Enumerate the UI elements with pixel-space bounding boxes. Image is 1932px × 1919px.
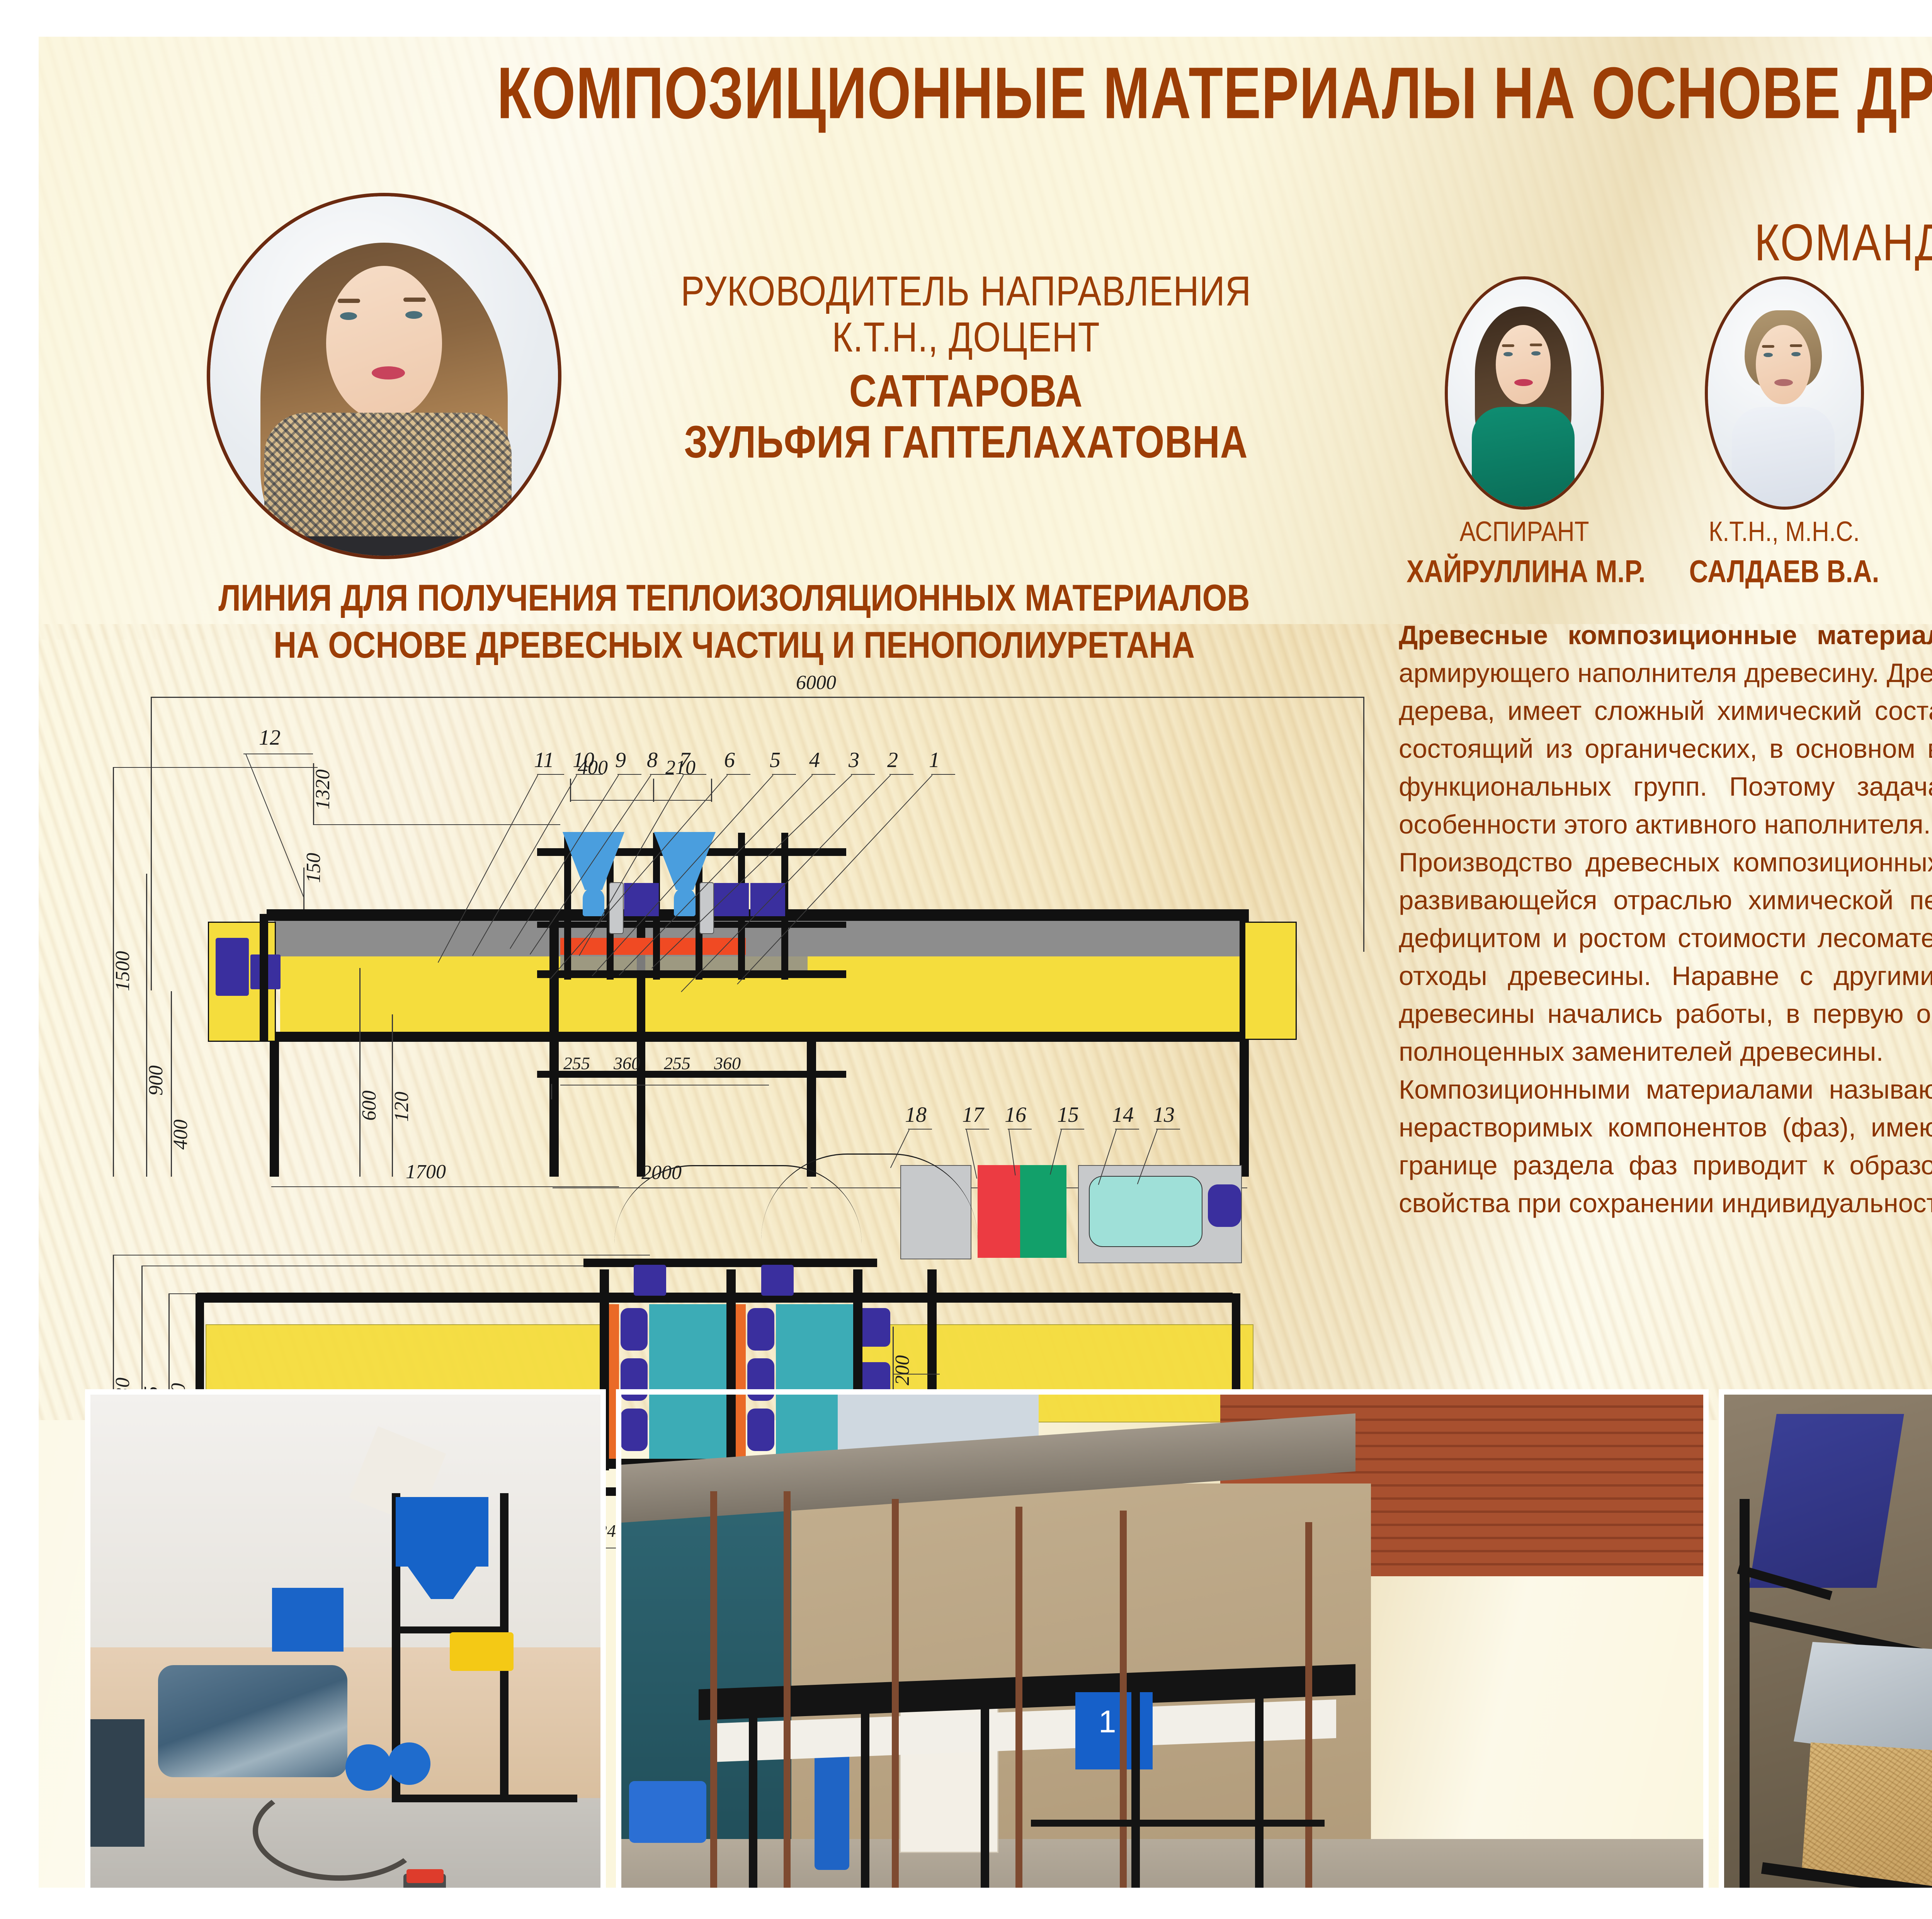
callout-14: 14 bbox=[1112, 1102, 1134, 1127]
callout-9: 9 bbox=[615, 748, 626, 772]
team-member-1: АСПИРАНТ ХАЙРУЛЛИНА М.Р. bbox=[1406, 276, 1642, 584]
technical-drawing: 6000 1500 900 400 1320 12 150 400 210 bbox=[104, 651, 1379, 1385]
avatar bbox=[1445, 276, 1604, 510]
callout-8: 8 bbox=[647, 748, 658, 772]
paragraph-3: Композиционными материалами называются м… bbox=[1399, 1071, 1932, 1222]
bin-label: 1 bbox=[1099, 1704, 1116, 1740]
leader-surname: САТТАРОВА bbox=[564, 367, 1368, 416]
callout-5: 5 bbox=[770, 748, 781, 772]
callout-18: 18 bbox=[905, 1102, 927, 1127]
callout-6: 6 bbox=[724, 748, 735, 772]
callout-4: 4 bbox=[809, 748, 820, 772]
drawing-title-line-1: ЛИНИЯ ДЛЯ ПОЛУЧЕНИЯ ТЕПЛОИЗОЛЯЦИОННЫХ МА… bbox=[100, 575, 1368, 622]
callout-15: 15 bbox=[1057, 1102, 1079, 1127]
team-member-role: К.Т.Н., М.Н.С. bbox=[1667, 516, 1902, 548]
dim-255-b: 255 bbox=[664, 1053, 690, 1073]
term-dkm: Древесные композиционные материалы (ДКМ) bbox=[1399, 620, 1932, 650]
dim-360-a: 360 bbox=[614, 1053, 640, 1073]
dim-900: 900 bbox=[145, 1065, 167, 1096]
leader-role-line-2: К.Т.Н., ДОЦЕНТ bbox=[564, 315, 1368, 361]
page-title: КОМПОЗИЦИОННЫЕ МАТЕРИАЛЫ НА ОСНОВЕ ДРЕВЕ… bbox=[58, 51, 1932, 136]
callout-16: 16 bbox=[1005, 1102, 1026, 1127]
conveyor-line-photo: 1 bbox=[616, 1389, 1709, 1888]
team-section-title: КОМАНДА НАПРАВЛЕНИЯ bbox=[1414, 213, 1932, 272]
avatar bbox=[1705, 276, 1864, 510]
team-member-role: АСПИРАНТ bbox=[1406, 516, 1642, 548]
dim-6000: 6000 bbox=[796, 671, 836, 694]
team-members-row: АСПИРАНТ ХАЙРУЛЛИНА М.Р. К.Т.Н., М.Н.С. … bbox=[1406, 276, 1932, 562]
dim-600: 600 bbox=[358, 1090, 381, 1121]
dim-1320: 1320 bbox=[311, 769, 334, 810]
photo-gallery: 1 bbox=[85, 1389, 1932, 1888]
team-member-name: ИГНАТЬЕВА Г.И. bbox=[1926, 553, 1932, 590]
callout-3: 3 bbox=[849, 748, 859, 772]
dim-400-left: 400 bbox=[169, 1119, 192, 1150]
team-member-2: К.Т.Н., М.Н.С. САЛДАЕВ В.А. bbox=[1667, 276, 1902, 584]
dim-255-a: 255 bbox=[563, 1053, 590, 1073]
description-text: Древесные композиционные материалы (ДКМ)… bbox=[1399, 616, 1932, 1222]
leader-given-name: ЗУЛЬФИЯ ГАПТЕЛАХАТОВНА bbox=[564, 418, 1368, 467]
leader-role-line-1: РУКОВОДИТЕЛЬ НАПРАВЛЕНИЯ bbox=[564, 269, 1368, 315]
team-member-3: К.Т.Н., ДОЦЕНТ ИГНАТЬЕВА Г.И. bbox=[1926, 276, 1932, 584]
team-member-name: САЛДАЕВ В.А. bbox=[1667, 553, 1902, 590]
dim-200-a: 200 bbox=[891, 1355, 914, 1385]
dim-120: 120 bbox=[390, 1092, 413, 1122]
paragraph-1-rest: — это материалы, содержащие в качестве а… bbox=[1399, 620, 1932, 839]
paragraph-2: Производство древесных композиционных ма… bbox=[1399, 844, 1932, 1071]
callout-10: 10 bbox=[573, 748, 594, 772]
dim-1500: 1500 bbox=[111, 951, 134, 991]
team-member-name: ХАЙРУЛЛИНА М.Р. bbox=[1406, 553, 1642, 590]
callout-11: 11 bbox=[534, 748, 554, 772]
callout-12: 12 bbox=[259, 725, 281, 750]
callout-13: 13 bbox=[1153, 1102, 1175, 1127]
callout-2: 2 bbox=[887, 748, 898, 772]
team-member-role: К.Т.Н., ДОЦЕНТ bbox=[1926, 516, 1932, 548]
dim-150: 150 bbox=[302, 853, 325, 883]
callout-1: 1 bbox=[929, 748, 940, 772]
wood-chip-tray-photo bbox=[1719, 1389, 1932, 1888]
leader-avatar bbox=[207, 193, 561, 559]
dim-360-b: 360 bbox=[714, 1053, 741, 1073]
dim-1700-left: 1700 bbox=[406, 1160, 446, 1183]
callout-7: 7 bbox=[679, 748, 690, 772]
workshop-equipment-photo bbox=[85, 1389, 606, 1888]
poster-canvas: КОМПОЗИЦИОННЫЕ МАТЕРИАЛЫ НА ОСНОВЕ ДРЕВЕ… bbox=[39, 37, 1932, 1888]
paragraph-1: Древесные композиционные материалы (ДКМ)… bbox=[1399, 616, 1932, 844]
callout-17: 17 bbox=[962, 1102, 984, 1127]
leader-info: РУКОВОДИТЕЛЬ НАПРАВЛЕНИЯ К.Т.Н., ДОЦЕНТ … bbox=[564, 269, 1368, 459]
